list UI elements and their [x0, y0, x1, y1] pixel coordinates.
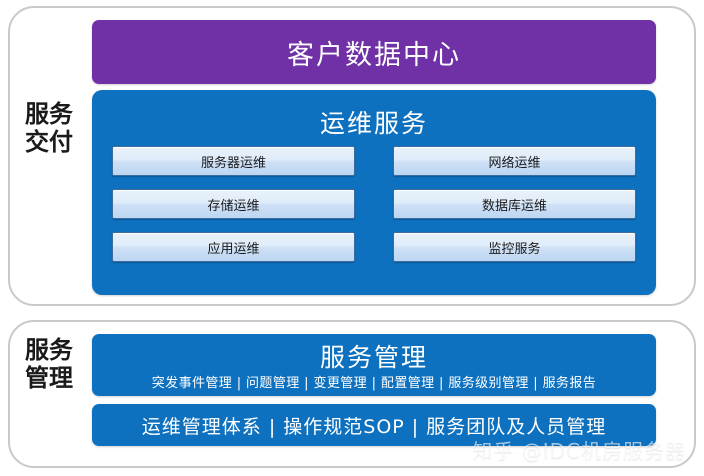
service-management-side-label: 服务管理 [22, 336, 76, 393]
ops-item-server[interactable]: 服务器运维 [112, 146, 355, 176]
operations-column-left: 服务器运维 存储运维 应用运维 [112, 146, 355, 262]
ops-item-application[interactable]: 应用运维 [112, 232, 355, 262]
customer-data-center-title: 客户数据中心 [287, 33, 461, 72]
diagram-canvas: 服务交付 客户数据中心 运维服务 服务器运维 存储运维 应用运维 网络运维 数据… [0, 0, 704, 476]
operations-service-grid: 服务器运维 存储运维 应用运维 网络运维 数据库运维 监控服务 [112, 146, 636, 262]
service-management-process-list: 突发事件管理 | 问题管理 | 变更管理 | 配置管理 | 服务级别管理 | 服… [92, 372, 656, 391]
ops-item-database[interactable]: 数据库运维 [393, 189, 636, 219]
operations-service-title: 运维服务 [92, 104, 656, 140]
operations-column-right: 网络运维 数据库运维 监控服务 [393, 146, 636, 262]
service-delivery-side-label: 服务交付 [22, 100, 76, 157]
ops-item-network[interactable]: 网络运维 [393, 146, 636, 176]
ops-item-storage[interactable]: 存储运维 [112, 189, 355, 219]
service-management-foundation-bar: 运维管理体系 | 操作规范SOP | 服务团队及人员管理 [92, 404, 656, 446]
service-management-main-bar: 服务管理 突发事件管理 | 问题管理 | 变更管理 | 配置管理 | 服务级别管… [92, 334, 656, 396]
operations-service-panel: 运维服务 服务器运维 存储运维 应用运维 网络运维 数据库运维 监控服务 [92, 90, 656, 295]
customer-data-center-bar: 客户数据中心 [92, 20, 656, 84]
service-management-title: 服务管理 [92, 338, 656, 374]
service-management-foundation-text: 运维管理体系 | 操作规范SOP | 服务团队及人员管理 [142, 412, 606, 439]
ops-item-monitoring[interactable]: 监控服务 [393, 232, 636, 262]
